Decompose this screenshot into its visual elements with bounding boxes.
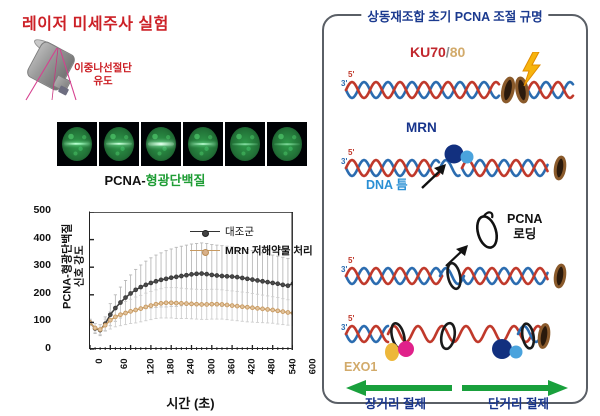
svg-text:3': 3' (341, 157, 347, 166)
chart-y-tick: 200 (33, 287, 51, 299)
legend-item-control: 대조군 (190, 224, 313, 239)
nucleus-image (230, 127, 260, 161)
short-resection-label: 단거리 절제 (488, 393, 549, 412)
svg-text:5': 5' (348, 148, 354, 157)
chart-y-tick: 100 (33, 314, 51, 326)
chart-x-tick: 600 (307, 359, 318, 375)
microscopy-frame: 20분 (225, 122, 265, 166)
figure-root: 레이저 미세주사 실험 이중나선절단 유도 2분 (0, 0, 600, 416)
nucleus-image (146, 127, 176, 161)
laser-beam-icon (0, 0, 120, 110)
chart-x-tick: 360 (226, 359, 237, 375)
chart-x-tick: 120 (145, 359, 156, 375)
legend-swatch-mrn (190, 250, 220, 251)
strip-caption-green: 형광단백질 (146, 173, 206, 188)
chart-x-tick: 240 (186, 359, 197, 375)
svg-text:3': 3' (341, 265, 347, 274)
microscopy-frame: 30분 (267, 122, 307, 166)
nucleus-image (272, 127, 302, 161)
mechanism-diagram-title: 상동재조합 초기 PCNA 조절 규명 (361, 6, 548, 25)
strip-caption: PCNA-형광단백질 (0, 170, 310, 189)
legend-item-mrn: MRN 저해약물 처리 (190, 243, 313, 258)
y-axis-label-line2: 신호 강도 (74, 206, 85, 326)
legend-label-mrn: MRN 저해약물 처리 (225, 243, 313, 258)
chart-legend: 대조군 MRN 저해약물 처리 (190, 224, 313, 262)
dna-stage-1: 5'3' (332, 66, 582, 110)
pcna-loading-label: PCNA 로딩 (507, 212, 542, 242)
dna-gap-label: DNA 틈 (366, 174, 408, 193)
chart-x-tick: 480 (267, 359, 278, 375)
microscopy-frame (57, 122, 97, 166)
chart-plot-area: 대조군 MRN 저해약물 처리 (89, 211, 292, 349)
nucleus-image (104, 127, 134, 161)
ku70-text: KU70 (410, 44, 446, 60)
legend-label-control: 대조군 (225, 224, 254, 239)
microscopy-frame: 2분 (99, 122, 139, 166)
svg-text:3': 3' (341, 323, 347, 332)
pcna-label-line2: 로딩 (513, 227, 536, 241)
mechanism-diagram-panel: 상동재조합 초기 PCNA 조절 규명 KU70/80 5'3' MRN 5'3… (322, 14, 588, 404)
microscopy-frame: 4분 (141, 122, 181, 166)
chart-x-tick: 0 (94, 359, 105, 364)
y-axis-label-line1: PCNA-형광단백질 (62, 224, 74, 309)
chart-x-tick: 60 (119, 359, 130, 370)
microscopy-image-strip: 2분 4분 10분 20분 (57, 122, 307, 166)
dsb-label-line2: 유도 (93, 75, 112, 87)
chart-x-axis-label: 시간 (초) (89, 393, 292, 412)
legend-swatch-control (190, 231, 220, 232)
left-panel: 레이저 미세주사 실험 이중나선절단 유도 2분 (0, 0, 310, 416)
chart-x-tick: 180 (165, 359, 176, 375)
dna-stage-3: 5'3' (332, 250, 582, 296)
nucleus-image (62, 127, 92, 161)
svg-text:3': 3' (341, 79, 347, 88)
svg-text:5': 5' (348, 314, 354, 323)
svg-text:5': 5' (348, 70, 354, 79)
arrow-pointer-icon (420, 164, 448, 190)
chart-x-tick: 300 (206, 359, 217, 375)
pcna-label-line1: PCNA (507, 212, 542, 226)
strip-caption-black: PCNA- (105, 173, 146, 188)
chart-y-tick: 400 (33, 232, 51, 244)
chart-y-axis-label: PCNA-형광단백질 신호 강도 (63, 206, 86, 326)
dsb-label-line1: 이중나선절단 (74, 62, 132, 74)
chart-y-tick: 0 (45, 342, 51, 354)
microscopy-frame: 10분 (183, 122, 223, 166)
pcna-ring-free-icon (470, 208, 504, 252)
chart-x-tick: 540 (287, 359, 298, 375)
chart-x-tick: 420 (246, 359, 257, 375)
dna-stage-4: 5'3' (332, 312, 582, 364)
resection-labels: 장거리 절제 단거리 절제 (334, 393, 580, 412)
exo1-label: EXO1 (344, 360, 377, 374)
nucleus-image (188, 127, 218, 161)
pcna-intensity-chart: PCNA-형광단백질 신호 강도 대조군 MRN 저해약물 처리 0100200… (36, 205, 310, 416)
chart-y-tick: 300 (33, 259, 51, 271)
dsb-induction-label: 이중나선절단 유도 (74, 62, 132, 88)
chart-y-tick: 500 (33, 204, 51, 216)
mrn-label: MRN (406, 120, 437, 135)
svg-text:5': 5' (348, 256, 354, 265)
ku80-text: 80 (450, 44, 466, 60)
long-resection-label: 장거리 절제 (365, 393, 426, 412)
lightning-bolt-icon (520, 52, 542, 86)
ku70-80-label: KU70/80 (410, 44, 465, 60)
